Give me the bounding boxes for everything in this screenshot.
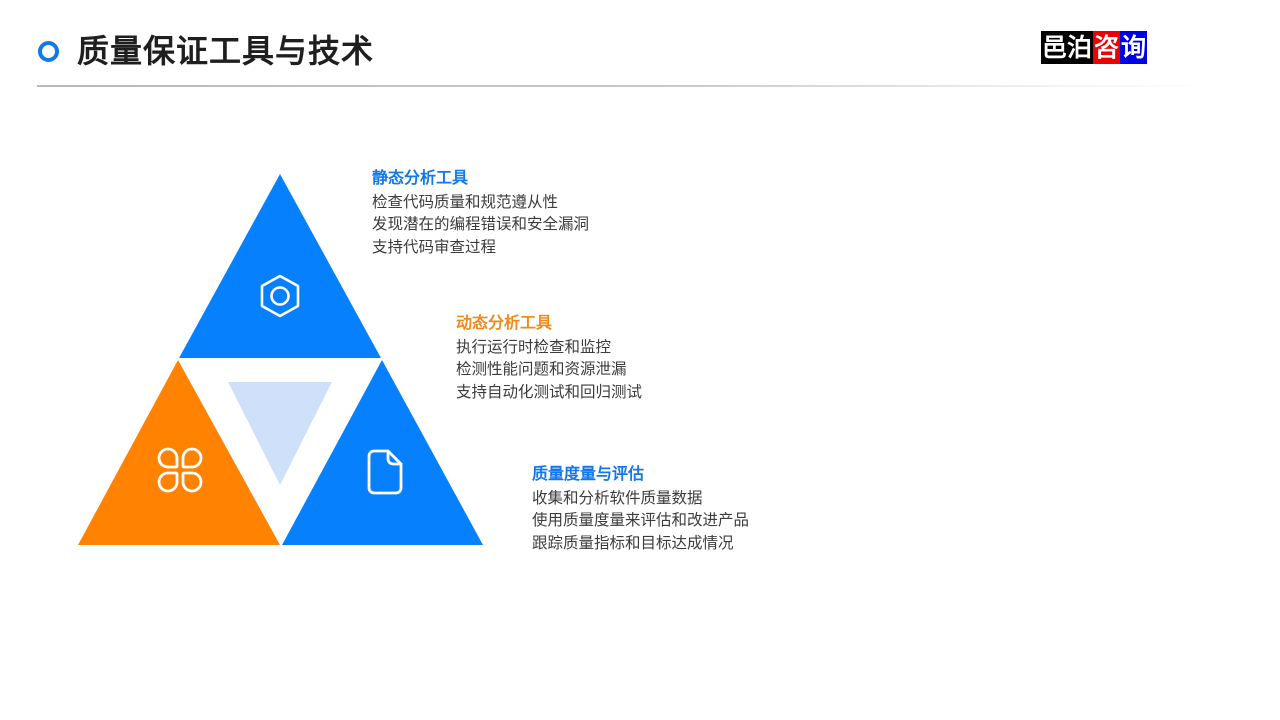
info-block-line: 使用质量度量来评估和改进产品 <box>532 510 749 532</box>
pyramid-segment-top[interactable] <box>179 174 381 358</box>
logo-text-blue: 询 <box>1120 31 1147 64</box>
info-block-dynamic-analysis: 动态分析工具 执行运行时检查和监控 检测性能问题和资源泄漏 支持自动化测试和回归… <box>456 313 642 404</box>
info-block-line: 执行运行时检查和监控 <box>456 337 642 359</box>
logo-text-red: 咨 <box>1093 31 1120 64</box>
info-block-title: 质量度量与评估 <box>532 464 749 486</box>
info-block-title: 动态分析工具 <box>456 313 642 335</box>
info-block-line: 检测性能问题和资源泄漏 <box>456 359 642 381</box>
header-divider <box>37 85 1212 87</box>
brand-logo: 邑泊 咨 询 <box>1041 31 1147 64</box>
info-block-line: 支持代码审查过程 <box>372 237 589 259</box>
info-block-line: 跟踪质量指标和目标达成情况 <box>532 533 749 555</box>
info-block-line: 收集和分析软件质量数据 <box>532 488 749 510</box>
page-header: 质量保证工具与技术 邑泊 咨 询 <box>0 0 1280 95</box>
logo-text-black: 邑泊 <box>1041 31 1093 64</box>
circle-outline-icon <box>38 41 59 62</box>
info-block-line: 检查代码质量和规范遵从性 <box>372 192 589 214</box>
page-title: 质量保证工具与技术 <box>77 28 374 74</box>
info-block-static-analysis: 静态分析工具 检查代码质量和规范遵从性 发现潜在的编程错误和安全漏洞 支持代码审… <box>372 168 589 259</box>
info-block-quality-metrics: 质量度量与评估 收集和分析软件质量数据 使用质量度量来评估和改进产品 跟踪质量指… <box>532 464 749 555</box>
info-block-title: 静态分析工具 <box>372 168 589 190</box>
info-block-line: 支持自动化测试和回归测试 <box>456 382 642 404</box>
info-block-line: 发现潜在的编程错误和安全漏洞 <box>372 214 589 236</box>
pyramid-segment-center <box>228 382 332 485</box>
